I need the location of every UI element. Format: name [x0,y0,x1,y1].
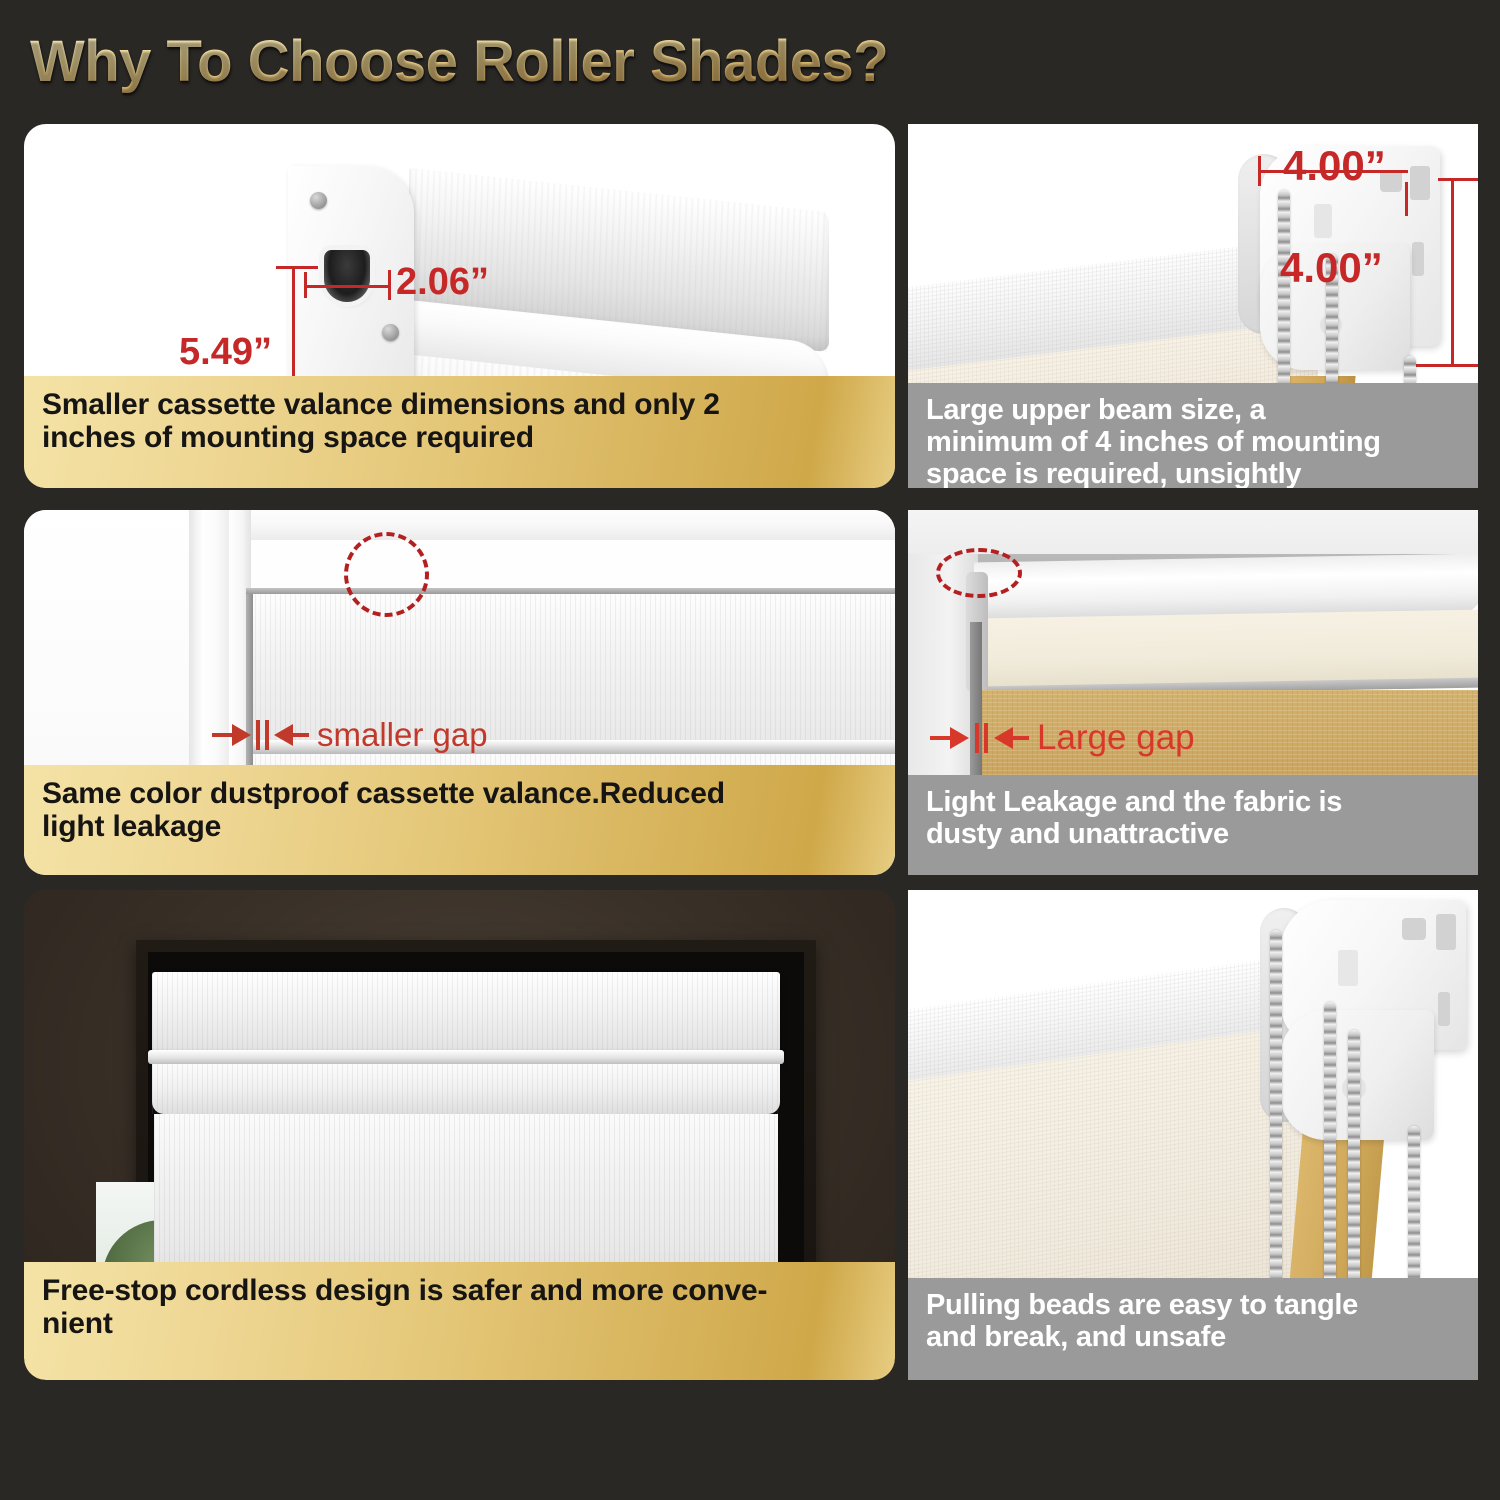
large-gap-annotation: Large gap [930,718,1195,758]
height-dimension-label: 4.00” [1280,244,1383,292]
highlight-circle-icon [344,532,429,617]
bracket-emboss [1314,204,1332,238]
caption-line: minimum of 4 inches of mounting [926,427,1460,459]
caption-line: Large upper beam size, a [926,395,1460,427]
arrow-right-icon [232,724,251,746]
height-dimension-tick-top [1438,178,1478,181]
caption-good-cassette-dimensions: Smaller cassette valance dimensions and … [24,376,895,488]
arrow-left-icon [274,724,293,746]
panel-good-smaller-gap: smaller gap Same color dustproof cassett… [24,510,895,875]
width-dimension-tick-right [388,270,391,300]
caption-line: Free-stop cordless design is safer and m… [42,1274,877,1307]
bracket-notch [1402,918,1426,940]
comparison-grid: 5.49” 2.06” Smaller cassette valance dim… [0,0,1500,1500]
caption-line: nient [42,1307,877,1340]
bracket-notch [1436,914,1456,950]
bracket-slot [324,250,370,302]
panel-bad-large-gap: Large gap Light Leakage and the fabric i… [908,510,1478,875]
arrow-stem [293,733,309,737]
caption-line: Pulling beads are easy to tangle [926,1290,1460,1322]
cassette-valance [152,972,780,1052]
panel-good-cordless: Free-stop cordless design is safer and m… [24,890,895,1380]
arrow-stem [1013,736,1029,740]
panel-bad-pull-beads: Pulling beads are easy to tangle and bre… [908,890,1478,1380]
panel-bad-large-beam: 4.00” 4.00” Large upper beam size, a min… [908,124,1478,488]
screw-icon [310,192,327,209]
caption-line: light leakage [42,810,877,843]
arrow-left-icon [994,727,1013,749]
height-dimension-label: 5.49” [179,331,272,374]
gap-measure-bars [975,723,988,753]
bracket-emboss [1338,950,1358,986]
arrow-stem [212,733,232,737]
panel-good-cassette-dimensions: 5.49” 2.06” Smaller cassette valance dim… [24,124,895,488]
shade-fabric [154,1114,778,1282]
width-dimension-label-top: 4.00” [1283,142,1386,190]
valance-front-lip [148,1050,784,1064]
height-dimension-line [1451,178,1454,366]
bracket-slot [1438,992,1450,1026]
caption-good-smaller-gap: Same color dustproof cassette valance.Re… [24,765,895,875]
arrow-stem [930,736,950,740]
roller-tube [152,1064,780,1114]
caption-line: Same color dustproof cassette valance.Re… [42,777,877,810]
caption-line: and break, and unsafe [926,1322,1460,1354]
width-dimension-tick-left [1258,156,1261,186]
width-dimension-tick-right [1405,182,1408,216]
wall-upper [908,510,1478,554]
large-gap-label: Large gap [1037,718,1195,758]
smaller-gap-annotation: smaller gap [212,716,488,754]
caption-good-cordless: Free-stop cordless design is safer and m… [24,1262,895,1380]
width-dimension-line [304,285,391,288]
bracket-slot [1412,242,1424,276]
caption-bad-large-gap: Light Leakage and the fabric is dusty an… [908,775,1478,875]
caption-line: Light Leakage and the fabric is [926,787,1460,819]
caption-bad-pull-beads: Pulling beads are easy to tangle and bre… [908,1278,1478,1380]
arrow-right-icon [950,727,969,749]
caption-line: Smaller cassette valance dimensions and … [42,388,877,421]
smaller-gap-label: smaller gap [317,716,488,754]
caption-line: dusty and unattractive [926,819,1460,851]
width-dimension-label: 2.06” [396,261,489,304]
gap-measure-bars [256,720,269,750]
caption-bad-large-beam: Large upper beam size, a minimum of 4 in… [908,383,1478,488]
width-dimension-tick-left [304,272,307,298]
screw-icon [382,324,399,341]
window-frame-outer [189,510,229,802]
bracket-notch [1410,166,1430,200]
caption-line: space is required, unsightly [926,459,1460,488]
height-dimension-tick-bottom [1406,364,1478,367]
caption-line: inches of mounting space required [42,421,877,454]
height-dimension-tick-top [276,266,318,269]
highlight-circle-icon [936,548,1022,598]
window-head-trim [209,510,895,540]
